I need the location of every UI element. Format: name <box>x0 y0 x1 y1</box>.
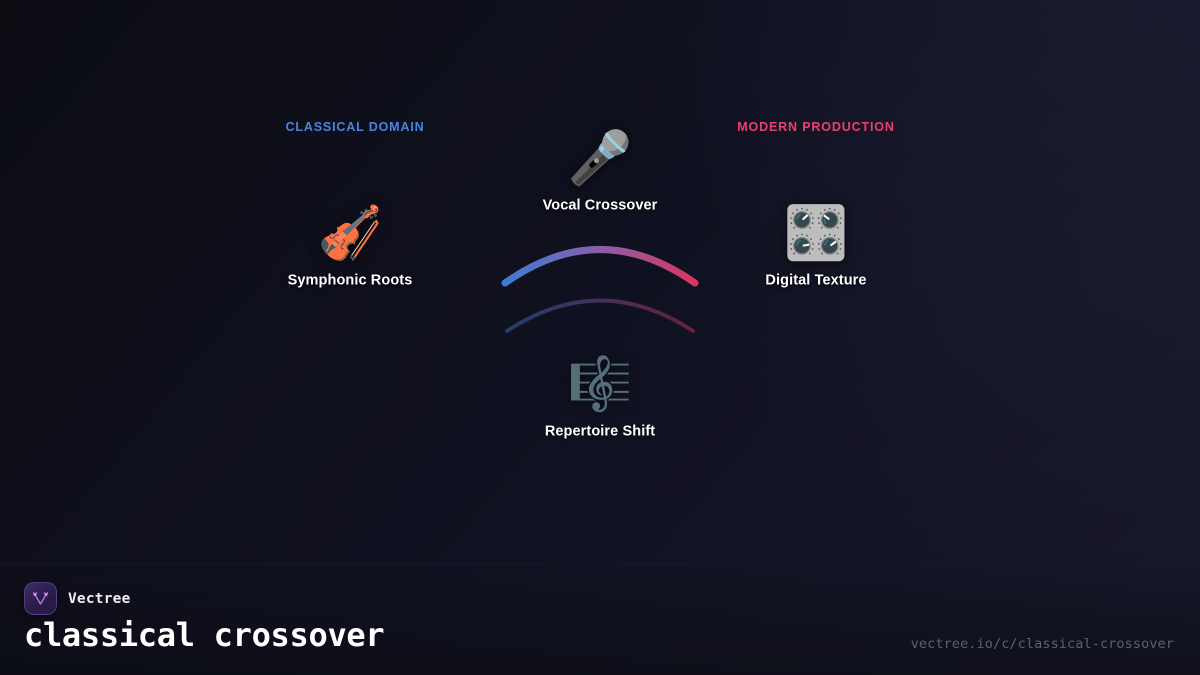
microphone-emoji: 🎤 <box>568 133 633 185</box>
edge-upper <box>505 250 695 284</box>
page-title: classical crossover <box>24 616 384 654</box>
node-symphonic-roots[interactable]: 🎻 Symphonic Roots <box>288 208 413 289</box>
node-vocal-crossover[interactable]: 🎤 Vocal Crossover <box>543 133 658 214</box>
violin-emoji: 🎻 <box>318 208 383 260</box>
node-repertoire-shift-label: Repertoire Shift <box>545 424 655 440</box>
vectree-v-tree-logo <box>24 582 57 615</box>
footer-url: vectree.io/c/classical-crossover <box>911 636 1174 652</box>
vectree-v-tree-icon <box>31 589 50 608</box>
edge-layer <box>0 0 1200 563</box>
control-knobs-emoji: 🎛️ <box>784 208 849 260</box>
column-header-modern-label: MODERN PRODUCTION <box>737 120 895 134</box>
node-digital-texture-label: Digital Texture <box>765 273 866 289</box>
node-symphonic-roots-label: Symphonic Roots <box>288 273 413 289</box>
column-header-modern: MODERN PRODUCTION <box>737 120 895 134</box>
node-repertoire-shift[interactable]: 🎼 Repertoire Shift <box>545 359 655 440</box>
poster-canvas: CLASSICAL DOMAIN MODERN PRODUCTION 🎻 Sym… <box>0 0 1200 675</box>
concept-graph: CLASSICAL DOMAIN MODERN PRODUCTION 🎻 Sym… <box>0 0 1200 563</box>
column-header-classical-label: CLASSICAL DOMAIN <box>285 120 424 134</box>
column-header-classical: CLASSICAL DOMAIN <box>285 120 424 134</box>
node-vocal-crossover-label: Vocal Crossover <box>543 198 658 214</box>
edge-lower <box>507 301 693 332</box>
node-digital-texture[interactable]: 🎛️ Digital Texture <box>765 208 866 289</box>
brand-row[interactable]: Vectree <box>24 582 131 615</box>
brand-name: Vectree <box>68 591 131 607</box>
footer-bar: Vectree classical crossover vectree.io/c… <box>0 563 1200 675</box>
musical-score-emoji: 🎼 <box>568 359 633 411</box>
